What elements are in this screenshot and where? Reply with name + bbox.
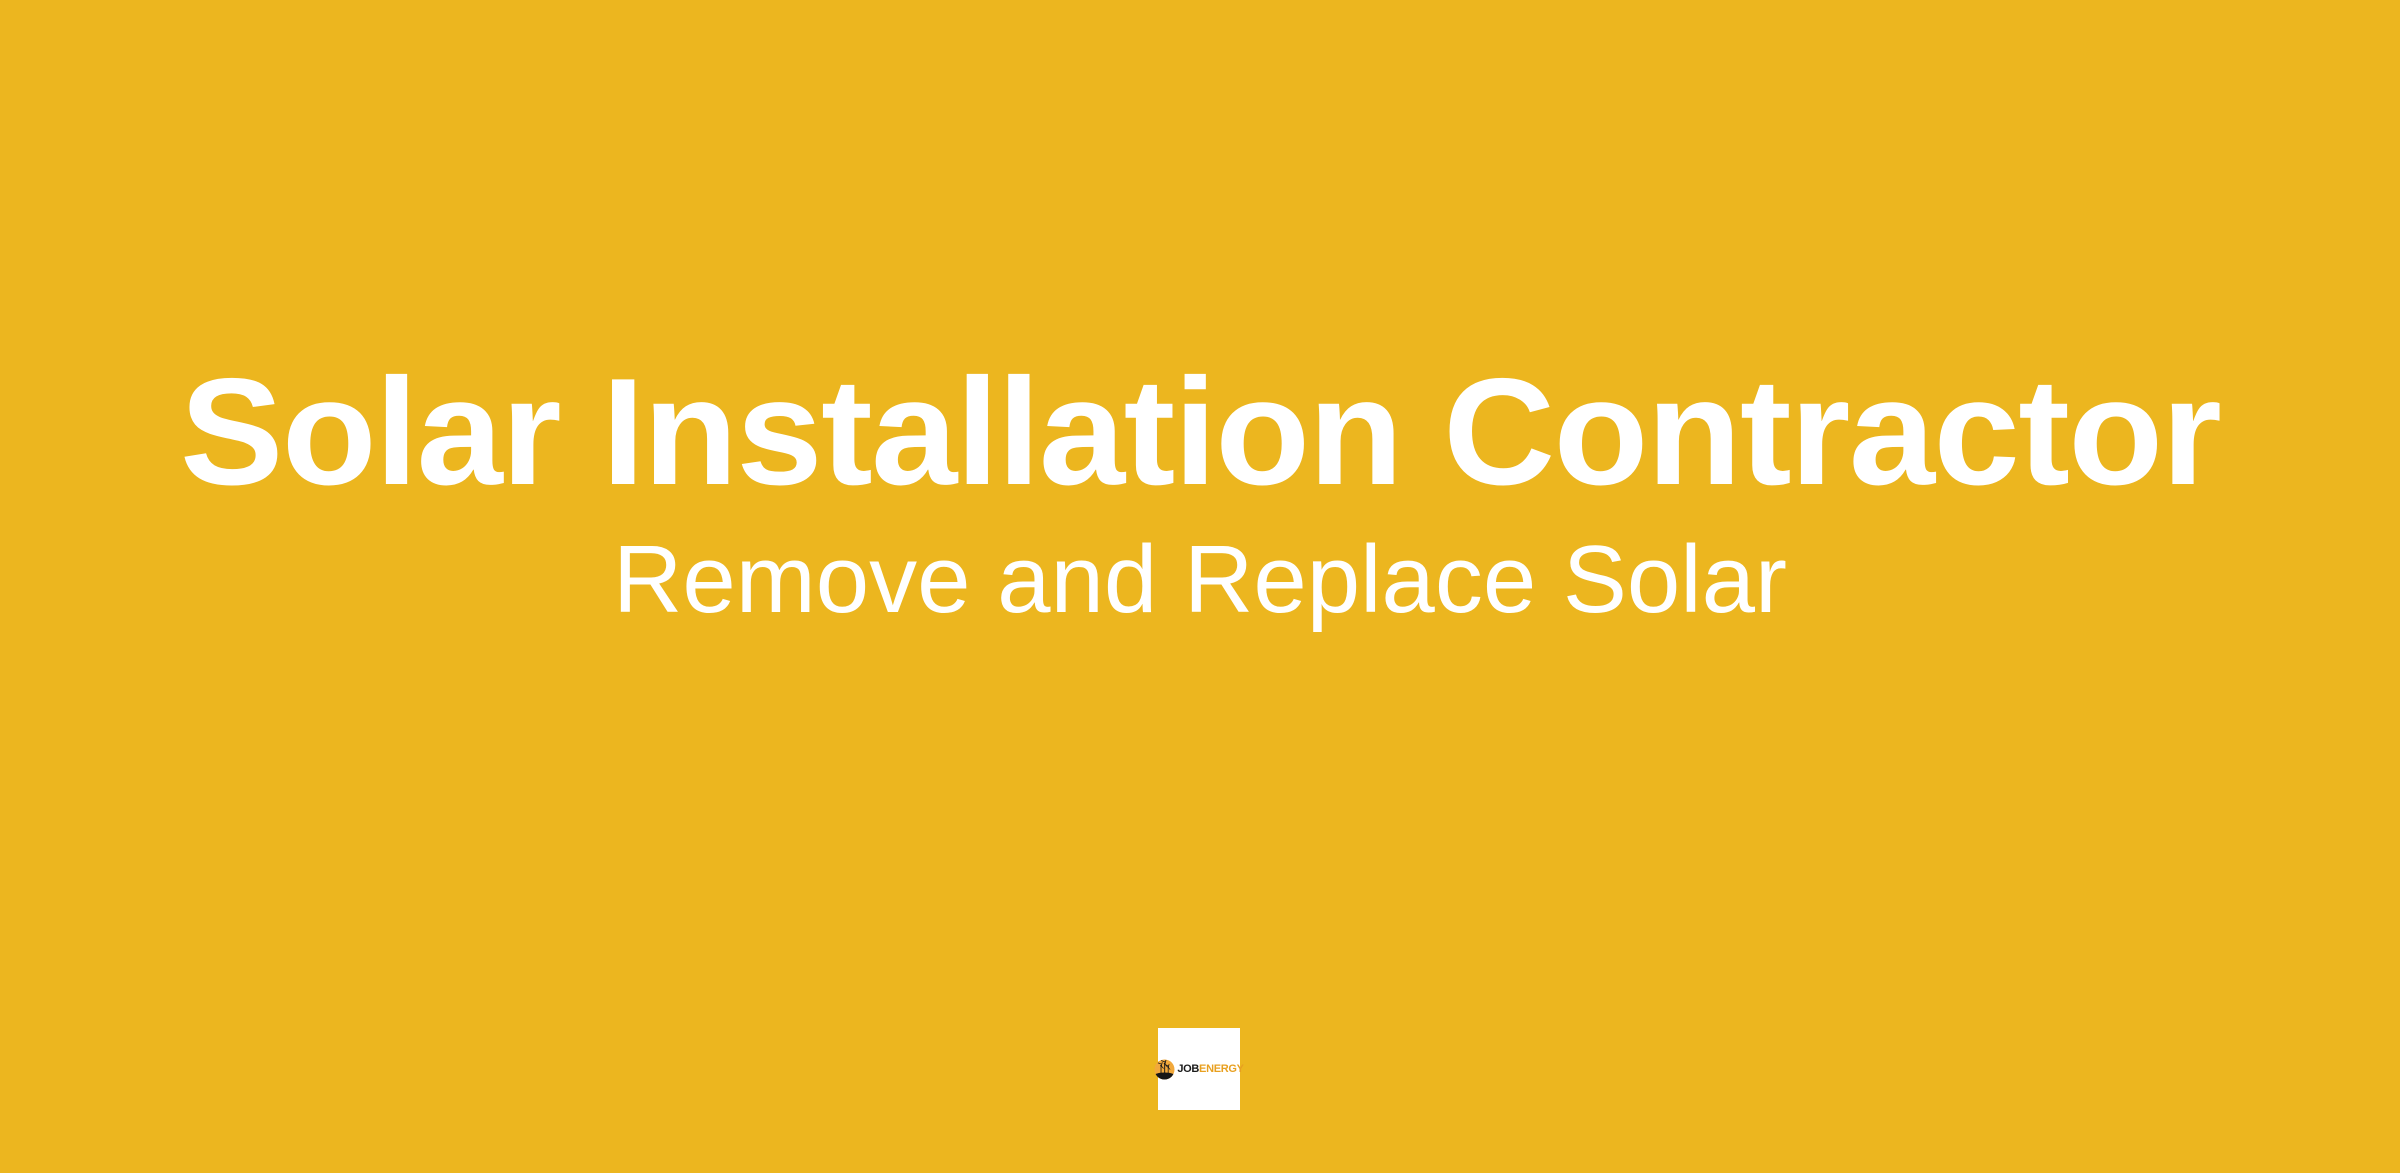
logo-wordmark: JOBENERGY <box>1177 1064 1243 1075</box>
logo-word-energy: ENERGY <box>1199 1063 1244 1075</box>
logo-lockup: JOBENERGY <box>1161 1059 1237 1080</box>
sun-wind-turbine-icon <box>1154 1059 1175 1080</box>
page-title: Solar Installation Contractor <box>180 352 2220 513</box>
headline-block: Solar Installation Contractor Remove and… <box>0 0 2400 1173</box>
page-subtitle: Remove and Replace Solar <box>613 527 1787 633</box>
logo-card: JOBENERGY <box>1158 1028 1240 1110</box>
slide-canvas: Solar Installation Contractor Remove and… <box>0 0 2400 1173</box>
logo-word-job: JOB <box>1177 1063 1199 1075</box>
